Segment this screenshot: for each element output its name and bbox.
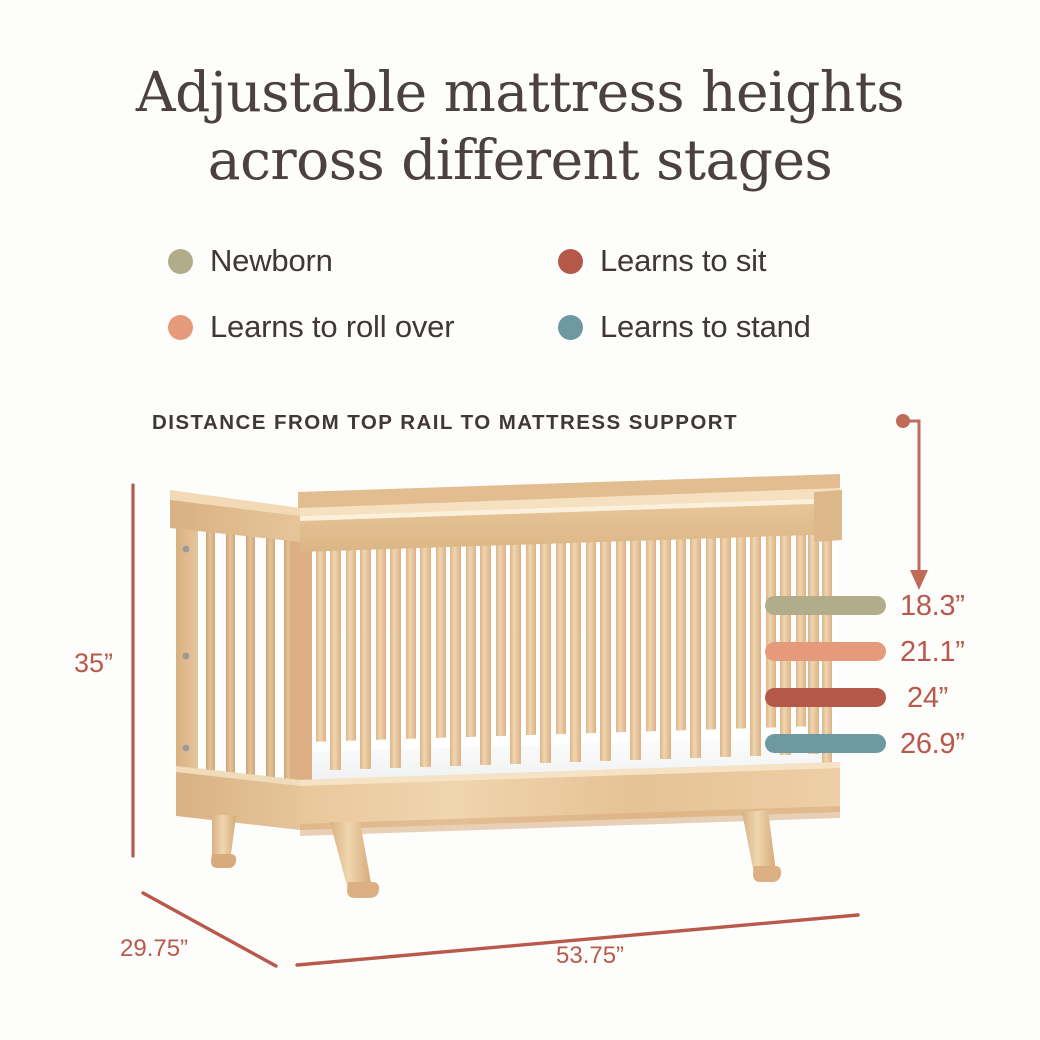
depth-dimension-label: 29.75” [120,935,188,963]
infographic-page: Adjustable mattress heights across diffe… [0,0,1040,1040]
caption-leader-line [896,414,928,590]
height-dimension-label: 35” [74,648,113,679]
dimension-lines [0,0,1040,1040]
width-dimension-label: 53.75” [556,942,624,970]
